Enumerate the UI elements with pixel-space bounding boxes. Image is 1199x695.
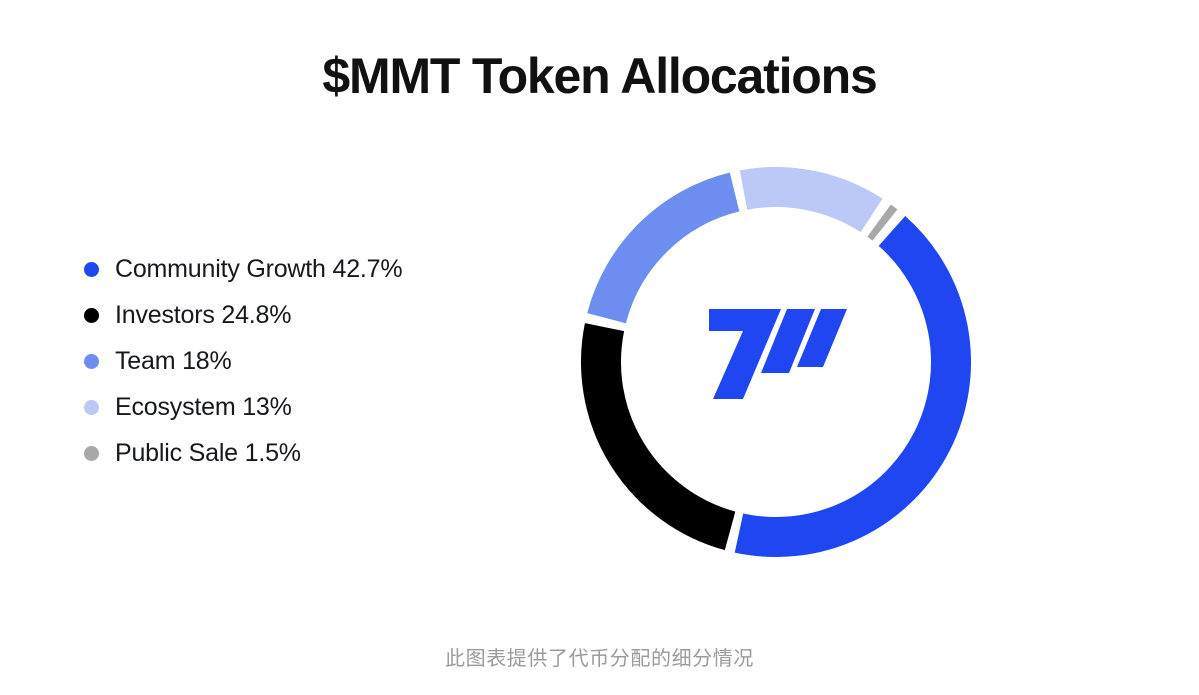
legend-item-community-growth[interactable]: Community Growth 42.7% [84, 246, 524, 292]
legend-item-label: Investors 24.8% [115, 301, 291, 330]
donut-chart-svg [581, 167, 971, 557]
legend-swatch-icon [84, 308, 99, 323]
legend-swatch-icon [84, 446, 99, 461]
page-title: $MMT Token Allocations [0, 48, 1199, 106]
chart-legend: Community Growth 42.7% Investors 24.8% T… [84, 246, 524, 476]
chart-caption: 此图表提供了代币分配的细分情况 [0, 642, 1199, 671]
legend-swatch-icon [84, 400, 99, 415]
legend-item-team[interactable]: Team 18% [84, 338, 524, 384]
legend-item-ecosystem[interactable]: Ecosystem 13% [84, 384, 524, 430]
legend-swatch-icon [84, 354, 99, 369]
legend-item-public-sale[interactable]: Public Sale 1.5% [84, 430, 524, 476]
legend-item-investors[interactable]: Investors 24.8% [84, 292, 524, 338]
donut-chart [581, 167, 971, 557]
slide-canvas: $MMT Token Allocations Community Growth … [0, 0, 1199, 695]
donut-segment-investors[interactable] [601, 327, 730, 531]
donut-segment-ecosystem[interactable] [744, 187, 872, 215]
donut-segment-public-sale[interactable] [879, 221, 885, 225]
donut-segment-group [601, 187, 951, 537]
legend-item-label: Team 18% [115, 347, 232, 376]
donut-segment-team[interactable] [607, 192, 735, 318]
legend-item-label: Community Growth 42.7% [115, 255, 402, 284]
legend-swatch-icon [84, 262, 99, 277]
donut-segment-community-growth[interactable] [739, 231, 951, 537]
legend-item-label: Ecosystem 13% [115, 393, 292, 422]
legend-item-label: Public Sale 1.5% [115, 439, 301, 468]
